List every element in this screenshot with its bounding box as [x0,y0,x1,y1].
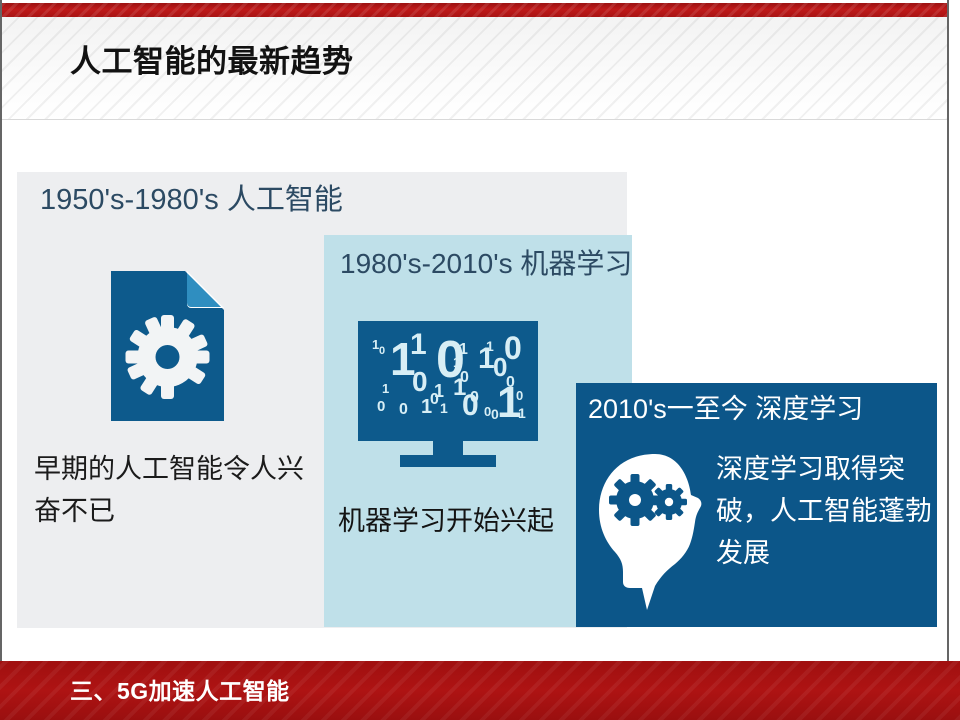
svg-text:1: 1 [440,400,448,416]
panel-deep-learning-title: 2010's一至今 深度学习 [588,392,863,426]
head-gears-icon [595,452,717,612]
svg-text:1: 1 [410,328,427,361]
svg-text:1: 1 [486,338,494,354]
svg-text:1: 1 [382,381,389,396]
page-title: 人工智能的最新趋势 [70,42,354,82]
panel-machine-learning-body: 机器学习开始兴起 [338,500,576,542]
svg-text:0: 0 [379,345,385,357]
svg-text:1: 1 [453,354,461,370]
svg-text:0: 0 [484,404,491,419]
svg-text:0: 0 [399,401,408,418]
svg-text:0: 0 [412,366,428,397]
panel-deep-learning-body: 深度学习取得突破，人工智能蓬勃发展 [716,448,936,574]
slide-canvas: 人工智能的最新趋势 1950's-1980's 人工智能 [0,0,960,720]
panel-machine-learning-title: 1980's-2010's 机器学习 [340,246,632,282]
panel-early-ai-body: 早期的人工智能令人兴奋不已 [34,448,324,532]
svg-text:0: 0 [470,389,479,406]
panel-early-ai-title: 1950's-1980's 人工智能 [40,182,343,218]
svg-text:0: 0 [377,398,385,415]
svg-text:1: 1 [518,405,526,421]
svg-text:0: 0 [504,330,522,366]
document-gear-icon [111,271,224,421]
footer-section-label: 三、5G加速人工智能 [70,676,290,706]
monitor-binary-icon: 1 0 1 1 0 0 1 0 1 0 1 1 0 1 1 0 0 0 1 0 [358,321,538,467]
svg-text:0: 0 [430,391,439,408]
svg-text:0: 0 [516,388,523,403]
top-red-accent-bar [2,3,947,17]
svg-text:0: 0 [460,369,469,386]
slide-border-right [947,0,949,720]
